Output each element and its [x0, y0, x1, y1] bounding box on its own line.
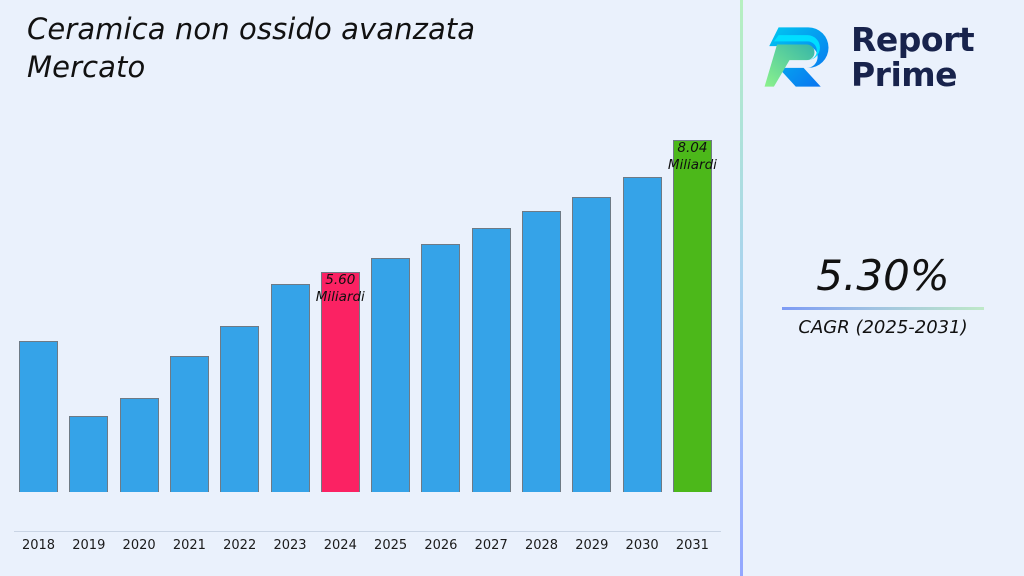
- bar-2020: [120, 398, 159, 492]
- bar-2018: [19, 341, 58, 492]
- report-prime-logo-icon: [763, 18, 841, 96]
- x-axis-tick-labels: 2018201920202021202220232024202520262027…: [0, 538, 740, 568]
- brand-wordmark: Report Prime: [851, 22, 974, 92]
- brand-name-line1: Report: [851, 20, 974, 59]
- bar-2029: [572, 197, 611, 492]
- chart-panel: Ceramica non ossido avanzata Mercato 5.6…: [0, 0, 740, 576]
- bar-2019: [69, 416, 108, 492]
- cagr-caption: CAGR (2025-2031): [757, 316, 1009, 340]
- bar-chart-plot-area: 5.60 Miliardi8.04 Miliardi: [0, 0, 740, 536]
- chart-infographic: Ceramica non ossido avanzata Mercato 5.6…: [0, 0, 1024, 576]
- bar-2023: [271, 284, 310, 492]
- bar-2022: [220, 326, 259, 492]
- cagr-value: 5.30%: [757, 252, 1009, 300]
- bar-2028: [522, 211, 561, 492]
- bar-2027: [472, 228, 511, 492]
- cagr-block: 5.30% CAGR (2025-2031): [757, 252, 1009, 340]
- bar-2021: [170, 356, 209, 492]
- bar-value-label-2024: 5.60 Miliardi: [280, 272, 400, 306]
- brand-name-line2: Prime: [851, 55, 957, 94]
- bar-2026: [421, 244, 460, 492]
- bar-2030: [623, 177, 662, 492]
- cagr-divider-rule: [782, 307, 984, 310]
- bar-2031: [673, 140, 712, 492]
- side-panel: Report Prime 5.30% CAGR (2025-2031): [743, 0, 1024, 576]
- x-axis-line: [14, 531, 721, 532]
- brand-logo: Report Prime: [763, 12, 1013, 102]
- bar-value-label-2031: 8.04 Miliardi: [632, 140, 752, 174]
- x-tick-2031: 2031: [662, 538, 722, 553]
